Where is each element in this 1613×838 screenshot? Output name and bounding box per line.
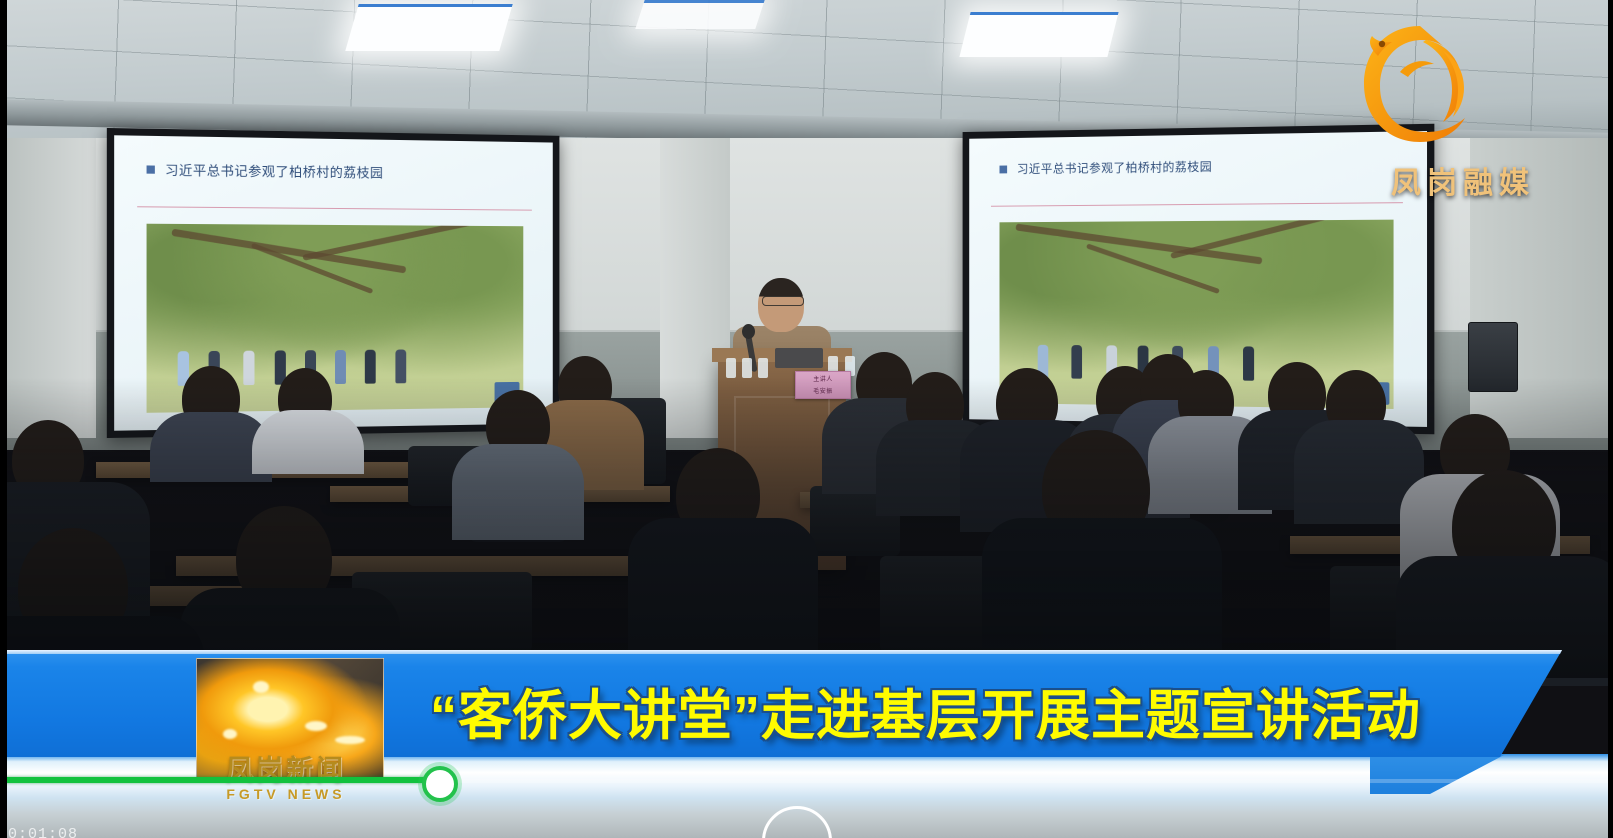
bullet-square-icon xyxy=(146,165,154,173)
slide-title-left: 习近平总书记参观了柏桥村的荔枝园 xyxy=(165,160,383,182)
program-logo-en: FGTV NEWS xyxy=(206,785,366,803)
scene-vignette xyxy=(0,378,1613,678)
water-bottle xyxy=(758,358,768,378)
progress-bar-handle[interactable] xyxy=(422,766,458,802)
frame-edge-right xyxy=(1608,0,1613,838)
news-headline: “客侨大讲堂”走进基层开展主题宣讲活动 xyxy=(430,664,1490,756)
phoenix-bird-logo-icon xyxy=(1356,20,1484,148)
slide-title-right: 习近平总书记参观了柏桥村的荔枝园 xyxy=(1017,158,1212,177)
slide-divider xyxy=(137,206,532,210)
station-logo: 凤岗融媒 xyxy=(1338,20,1588,200)
program-logo: 凤岗新闻 FGTV NEWS xyxy=(206,755,366,821)
video-frame: 习近平总书记参观了柏桥村的荔枝园 xyxy=(0,0,1613,838)
bullet-square-icon xyxy=(1000,165,1008,173)
water-bottle xyxy=(726,358,736,378)
ceiling-light xyxy=(959,12,1118,57)
water-bottle xyxy=(742,358,752,378)
presenter-glasses xyxy=(762,296,804,306)
slide-heading-left: 习近平总书记参观了柏桥村的荔枝园 xyxy=(146,159,532,183)
progress-bar-fill[interactable] xyxy=(0,777,436,783)
ceiling-light xyxy=(345,4,512,51)
podium-laptop xyxy=(775,348,823,368)
slide-divider xyxy=(991,202,1403,207)
microphone-icon xyxy=(742,324,755,339)
station-name: 凤岗融媒 xyxy=(1338,158,1588,202)
frame-edge-left xyxy=(0,0,7,838)
elapsed-time: 0:01:08 xyxy=(8,826,78,838)
ceiling-light xyxy=(635,0,764,29)
lower-third-top-highlight xyxy=(0,650,1562,654)
